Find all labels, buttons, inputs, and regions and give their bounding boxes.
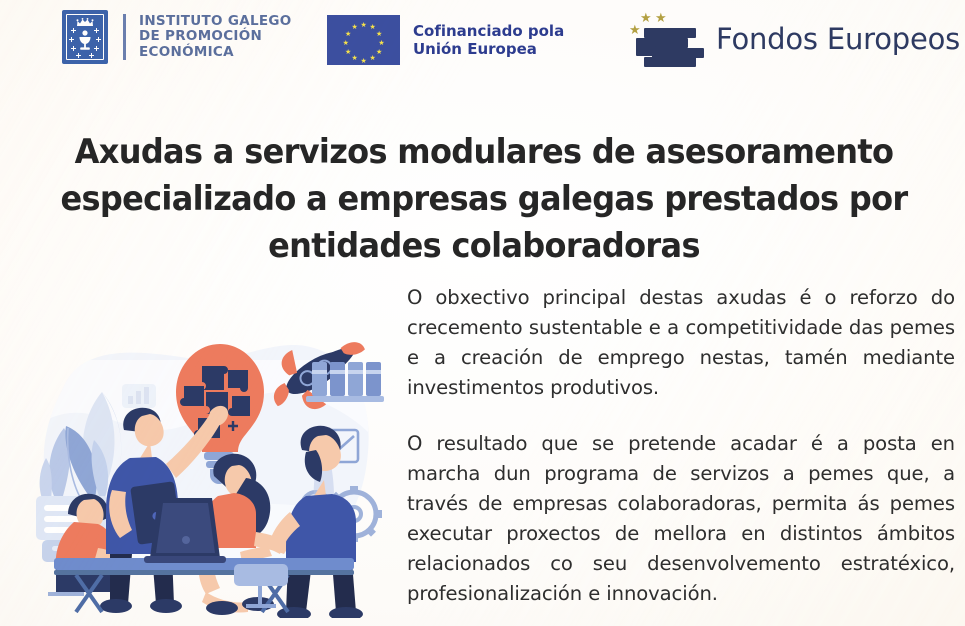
fondos-europeos-logo: ★ ★ ★ Fondos Europeos [622,8,960,70]
fondos-europeos-text: Fondos Europeos [716,22,960,56]
flyer-page: INSTITUTO GALEGO DE PROMOCIÓN ECONÓMICA … [0,0,965,626]
eu-cofinancing-logo: ★ ★ ★ ★ ★ ★ ★ ★ ★ ★ ★ ★ Cofinanciado pol… [327,15,564,65]
xunta-de-galicia-coat-of-arms-icon [62,10,108,64]
bookshelf-binders [306,362,384,402]
fondos-europeos-stairs-icon: ★ ★ ★ [622,8,706,70]
logo-divider [123,14,126,60]
igape-logo: INSTITUTO GALEGO DE PROMOCIÓN ECONÓMICA [62,10,292,64]
page-title: Axudas a servizos modulares de asesorame… [54,128,914,269]
eu-cofinancing-text: Cofinanciado pola Unión Europea [413,22,564,58]
igape-logo-text: INSTITUTO GALEGO DE PROMOCIÓN ECONÓMICA [139,14,292,61]
paragraph-objective: O obxectivo principal destas axudas é o … [407,283,955,403]
logo-band: INSTITUTO GALEGO DE PROMOCIÓN ECONÓMICA … [0,0,965,92]
european-union-flag-icon: ★ ★ ★ ★ ★ ★ ★ ★ ★ ★ ★ ★ [327,15,400,65]
team-brainstorming-illustration [6,300,398,618]
paragraph-result: O resultado que se pretende acadar é a p… [407,429,955,609]
body-copy: O obxectivo principal destas axudas é o … [407,283,955,609]
wall-chart-icon [122,384,156,408]
